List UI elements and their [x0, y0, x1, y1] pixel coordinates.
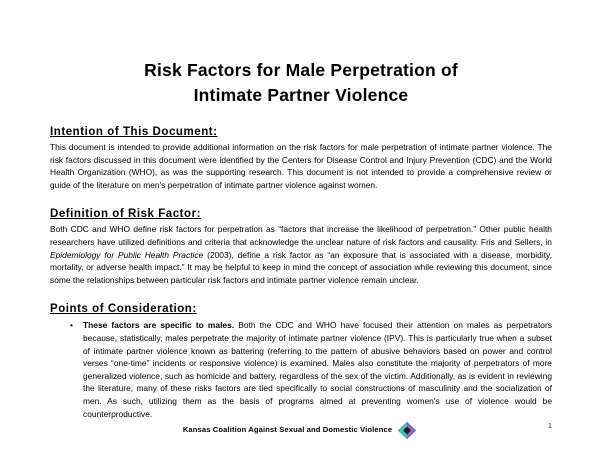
- page-title-line-2: Intimate Partner Violence: [50, 83, 552, 108]
- document-page: Risk Factors for Male Perpetration of In…: [0, 0, 600, 464]
- page-footer: Kansas Coalition Against Sexual and Dome…: [0, 420, 600, 446]
- section-heading-intention: Intention of This Document:: [50, 126, 218, 138]
- section-points: Points of Consideration: •These factors …: [50, 299, 552, 420]
- page-title: Risk Factors for Male Perpetration of In…: [50, 58, 552, 108]
- section-heading-points: Points of Consideration:: [50, 303, 197, 315]
- bullet-lead-text: These factors are specific to males.: [83, 320, 234, 330]
- section-heading-definition: Definition of Risk Factor:: [50, 208, 201, 220]
- footer-organization-name: Kansas Coalition Against Sexual and Dome…: [183, 425, 392, 434]
- section-paragraph-definition: Both CDC and WHO define risk factors for…: [50, 223, 552, 286]
- list-item: •These factors are specific to males. Bo…: [50, 319, 552, 420]
- book-title-citation: Epidemiology for Public Health Practice: [50, 250, 203, 260]
- page-title-line-1: Risk Factors for Male Perpetration of: [144, 60, 458, 80]
- page-number: 1: [548, 421, 552, 430]
- definition-text-part-1: Both CDC and WHO define risk factors for…: [50, 224, 552, 247]
- points-bullet-list: •These factors are specific to males. Bo…: [50, 319, 552, 420]
- kcsdv-diamond-logo-icon: [397, 421, 417, 440]
- bullet-body-text: Both the CDC and WHO have focused their …: [83, 320, 552, 418]
- section-intention: Intention of This Document: This documen…: [50, 122, 552, 191]
- bullet-point-icon: •: [70, 319, 73, 332]
- footer-organization-block: Kansas Coalition Against Sexual and Dome…: [0, 420, 600, 439]
- document-content: Risk Factors for Male Perpetration of In…: [50, 58, 552, 420]
- section-paragraph-intention: This document is intended to provide add…: [50, 141, 552, 191]
- section-definition: Definition of Risk Factor: Both CDC and …: [50, 204, 552, 286]
